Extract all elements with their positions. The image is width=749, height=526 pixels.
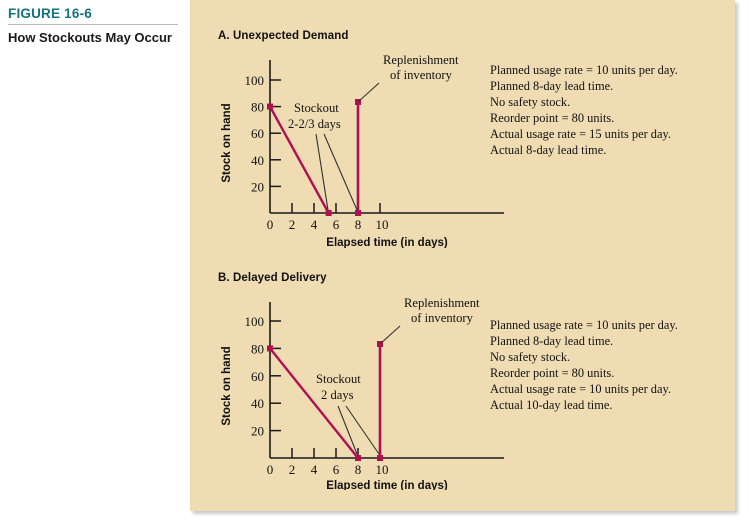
chart-a-x-axis-label: Elapsed time (in days) — [326, 237, 448, 248]
chart-b-replenishment-leader — [380, 326, 400, 344]
chart-b-stockout-label-line2: 2 days — [321, 388, 354, 402]
chart-b-ytick-20: 20 — [251, 424, 264, 439]
chart-a-xtick-2: 2 — [289, 217, 296, 232]
panel-b-assumptions: Planned usage rate = 10 units per day. P… — [490, 317, 678, 413]
chart-a-xtick-0: 0 — [267, 217, 274, 232]
chart-a-replenishment-label-line2: of inventory — [390, 68, 453, 82]
chart-b-stockout-label-line1: Stockout — [316, 372, 361, 386]
figure-panel: A. Unexpected Demand 100 80 60 40 20 — [190, 0, 735, 511]
chart-b-ytick-80: 80 — [251, 341, 264, 356]
chart-a-y-ticks — [270, 80, 281, 186]
chart-a-unexpected-demand: 100 80 60 40 20 0 2 4 6 8 10 Elapsed tim… — [208, 48, 508, 263]
chart-b-y-ticks — [270, 321, 281, 431]
figure-number: FIGURE 16-6 — [8, 6, 180, 24]
chart-a-xtick-6: 6 — [333, 217, 340, 232]
chart-b-x-ticks — [292, 448, 380, 458]
chart-a-ytick-20: 20 — [251, 179, 264, 194]
chart-a-point-stockout — [326, 210, 332, 216]
chart-a-ytick-100: 100 — [245, 73, 265, 88]
chart-b-depletion-line — [270, 348, 358, 458]
chart-b-ytick-60: 60 — [251, 369, 264, 384]
chart-b-xtick-6: 6 — [333, 462, 340, 477]
chart-b-replenishment-label-line1: Replenishment — [404, 296, 480, 310]
chart-b-x-axis-label: Elapsed time (in days) — [326, 480, 448, 490]
chart-b-y-axis-label: Stock on hand — [221, 346, 233, 425]
chart-a-stockout-label-line2: 2-2/3 days — [288, 117, 341, 131]
chart-a-stockout-label-line1: Stockout — [294, 101, 339, 115]
panel-b-heading: B. Delayed Delivery — [218, 272, 327, 284]
chart-b-xtick-2: 2 — [289, 462, 296, 477]
panel-a-assumptions: Planned usage rate = 10 units per day. P… — [490, 62, 678, 158]
chart-b-ytick-40: 40 — [251, 396, 264, 411]
chart-a-ytick-40: 40 — [251, 153, 264, 168]
chart-b-stockout-leader-right — [346, 406, 379, 454]
chart-b-point-replenish-bottom — [377, 455, 383, 461]
chart-a-y-axis-label: Stock on hand — [221, 103, 233, 182]
figure-title: How Stockouts May Occur — [8, 30, 180, 47]
chart-b-xtick-8: 8 — [355, 462, 362, 477]
chart-a-x-ticks — [292, 203, 380, 213]
figure-caption: FIGURE 16-6 How Stockouts May Occur — [8, 6, 180, 47]
chart-a-point-start — [267, 104, 273, 110]
chart-b-xtick-10: 10 — [376, 462, 389, 477]
chart-a-xtick-4: 4 — [311, 217, 318, 232]
chart-a-replenishment-label-line1: Replenishment — [383, 53, 459, 67]
chart-a-ytick-80: 80 — [251, 100, 264, 115]
chart-a-ytick-60: 60 — [251, 126, 264, 141]
chart-a-stockout-leader-right — [324, 134, 357, 210]
chart-b-ytick-100: 100 — [245, 314, 265, 329]
chart-b-replenishment-label-line2: of inventory — [411, 311, 474, 325]
panel-a-heading: A. Unexpected Demand — [218, 30, 348, 42]
chart-b-xtick-0: 0 — [267, 462, 274, 477]
caption-divider — [8, 24, 178, 25]
chart-a-point-replenish-bottom — [355, 210, 361, 216]
chart-b-xtick-4: 4 — [311, 462, 318, 477]
chart-a-replenishment-leader — [358, 83, 379, 102]
chart-b-point-start — [267, 345, 273, 351]
chart-a-xtick-10: 10 — [376, 217, 389, 232]
chart-b-delayed-delivery: 100 80 60 40 20 0 2 4 6 8 10 Elapsed tim… — [208, 290, 508, 505]
chart-a-xtick-8: 8 — [355, 217, 362, 232]
chart-b-point-stockout — [355, 455, 361, 461]
